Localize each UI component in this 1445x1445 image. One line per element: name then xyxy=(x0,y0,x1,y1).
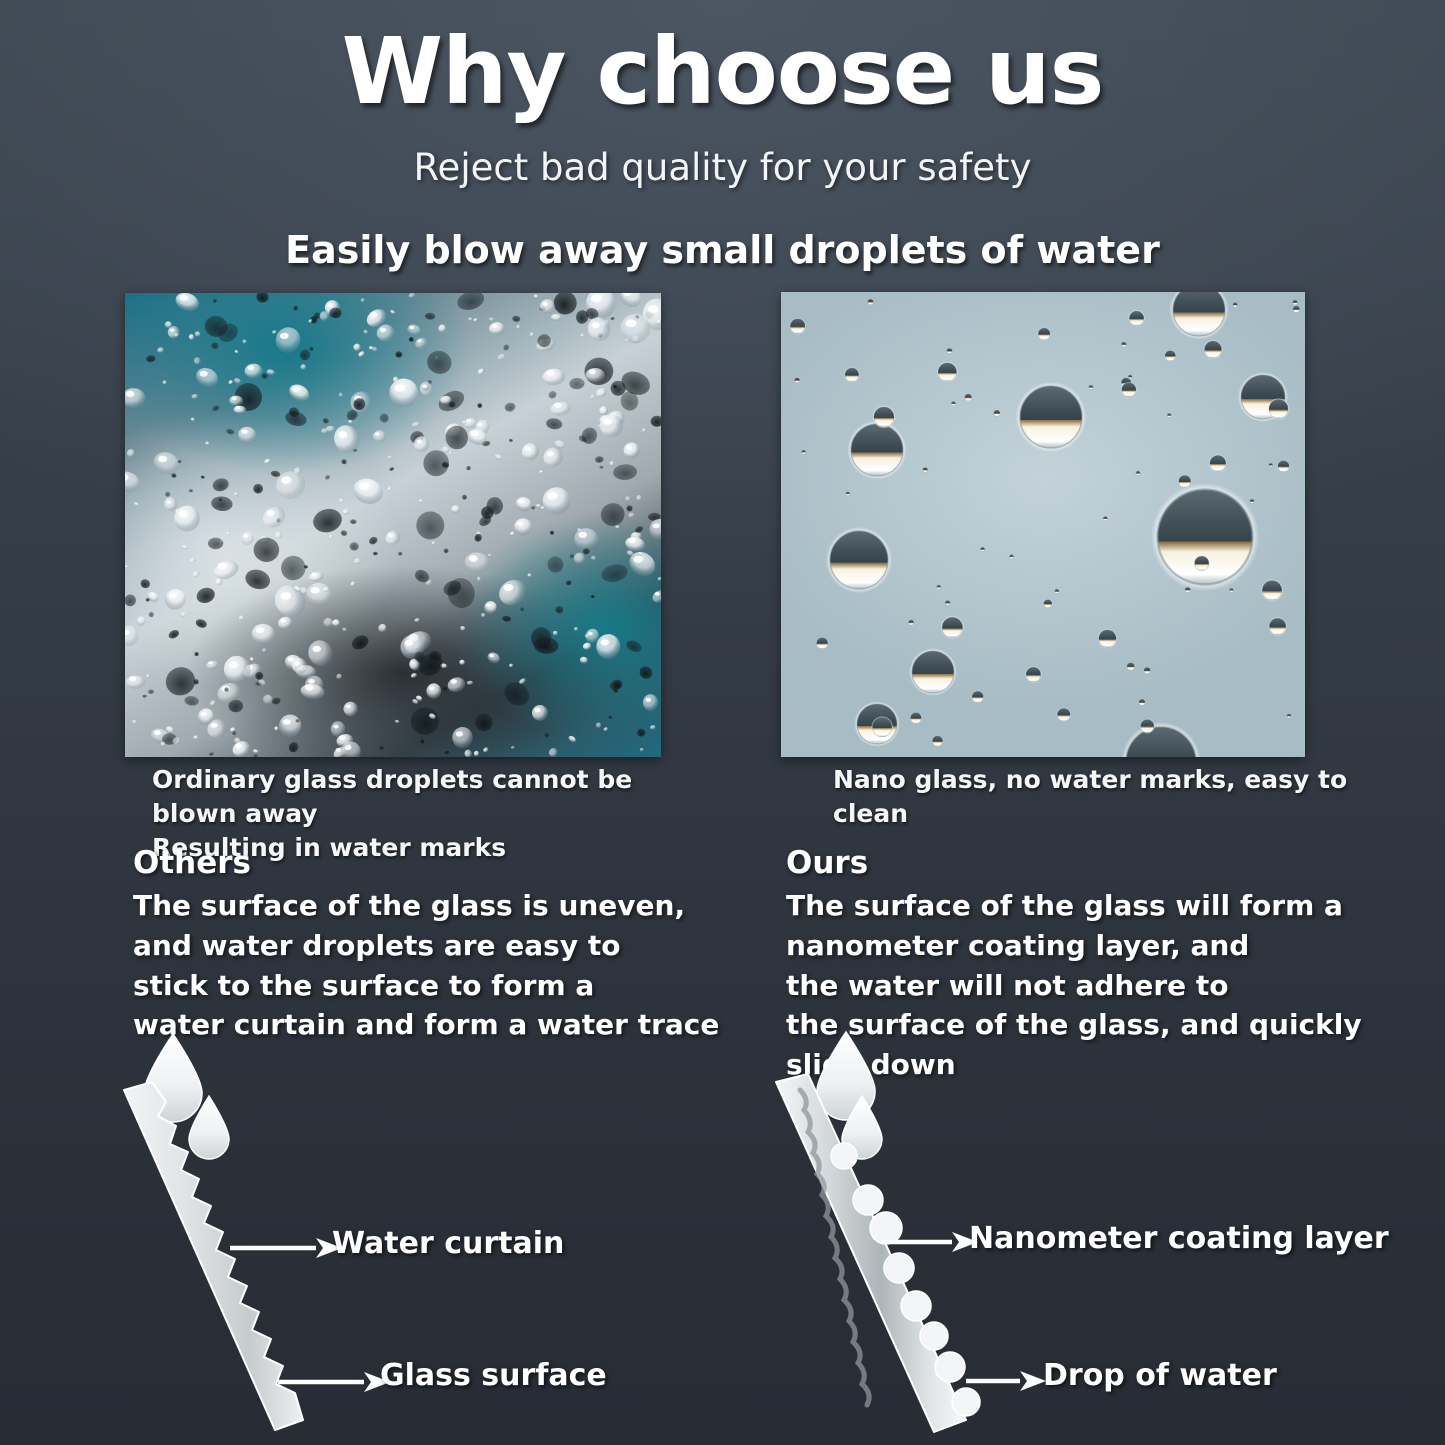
rain-droplet xyxy=(442,687,447,691)
rain-droplet xyxy=(395,719,400,723)
nano-water-bead xyxy=(1121,722,1201,757)
nano-water-bead xyxy=(1268,617,1287,636)
rain-droplet xyxy=(350,542,359,551)
nano-water-bead xyxy=(1128,310,1145,327)
droplet-highlight xyxy=(388,533,393,537)
rain-droplet xyxy=(208,538,223,550)
rain-droplet xyxy=(536,504,542,508)
rain-droplet xyxy=(494,575,531,610)
section-heading: Easily blow away small droplets of water xyxy=(0,228,1445,272)
rain-droplet xyxy=(377,623,388,634)
rain-droplet xyxy=(194,585,217,605)
rain-droplet xyxy=(253,749,259,754)
rain-droplet xyxy=(272,324,304,357)
rain-droplet xyxy=(308,571,324,582)
rain-droplet xyxy=(201,475,206,479)
rain-droplet xyxy=(473,318,478,322)
nano-water-bead xyxy=(1140,719,1155,734)
nano-water-bead xyxy=(1209,454,1227,472)
droplet-highlight xyxy=(218,563,227,570)
droplet-highlight xyxy=(266,510,274,516)
rain-droplet xyxy=(261,373,267,379)
nano-water-bead xyxy=(1268,463,1273,468)
rain-droplet xyxy=(473,533,483,543)
nano-water-bead xyxy=(1128,375,1133,380)
rain-droplet xyxy=(189,557,196,563)
rain-droplet xyxy=(451,505,460,514)
rain-droplet xyxy=(431,541,436,545)
rain-droplet xyxy=(574,627,579,632)
nano-glass-caption: Nano glass, no water marks, easy to clea… xyxy=(833,763,1353,831)
nano-water-bead xyxy=(1143,667,1150,674)
nano-water-bead xyxy=(1103,516,1108,521)
rain-droplet xyxy=(342,627,348,632)
droplet-highlight xyxy=(308,679,315,684)
rain-droplet xyxy=(599,466,603,469)
rain-droplet xyxy=(474,751,480,757)
rain-droplet xyxy=(378,412,390,424)
others-body-line: stick to the surface to form a xyxy=(133,966,733,1006)
rain-droplet xyxy=(549,400,572,417)
rain-droplet xyxy=(192,570,201,578)
rain-droplet xyxy=(389,467,395,472)
rain-droplet xyxy=(511,746,516,750)
rain-droplet xyxy=(350,519,356,524)
rain-droplet xyxy=(529,332,534,337)
nano-water-bead xyxy=(1178,474,1192,488)
rain-droplet xyxy=(600,562,630,585)
nano-water-bead xyxy=(1194,555,1210,571)
nano-water-bead xyxy=(826,527,892,593)
droplet-highlight xyxy=(380,328,386,333)
water-bead-icon xyxy=(870,1212,902,1244)
rain-droplet xyxy=(379,746,384,750)
rain-droplet xyxy=(209,752,214,757)
rain-droplet xyxy=(512,517,533,537)
rain-droplet xyxy=(425,682,442,699)
droplet-highlight xyxy=(211,723,218,728)
nano-water-bead xyxy=(794,377,800,383)
rain-droplet xyxy=(238,615,245,621)
rain-droplet xyxy=(474,713,494,733)
rain-droplet xyxy=(493,453,502,462)
droplet-highlight xyxy=(409,326,414,330)
rain-droplet xyxy=(609,461,615,467)
droplet-highlight xyxy=(417,339,422,342)
rain-droplet xyxy=(642,428,646,433)
rain-droplet xyxy=(497,353,507,361)
rain-droplet xyxy=(477,403,482,408)
rain-droplet xyxy=(210,495,233,512)
rain-droplet xyxy=(615,525,620,530)
rain-droplet xyxy=(520,441,541,462)
rain-droplet xyxy=(293,306,298,311)
droplet-highlight xyxy=(283,719,291,725)
rain-droplet xyxy=(180,611,187,618)
droplet-highlight xyxy=(339,431,348,438)
droplet-highlight xyxy=(542,302,547,306)
droplet-highlight xyxy=(394,384,404,392)
rain-droplet xyxy=(212,558,242,582)
rain-droplet xyxy=(256,293,270,303)
nano-water-bead xyxy=(1136,471,1141,476)
rain-droplet xyxy=(584,313,615,344)
rain-droplet xyxy=(254,754,258,757)
rain-droplet xyxy=(598,500,628,529)
nano-water-bead xyxy=(1229,588,1234,593)
droplet-highlight xyxy=(517,521,523,526)
rain-droplet xyxy=(579,656,588,664)
rain-droplet xyxy=(628,512,635,518)
rain-droplet xyxy=(415,510,447,542)
rain-droplet xyxy=(190,417,195,422)
droplet-highlight xyxy=(578,532,587,538)
nano-water-bead xyxy=(1056,707,1071,722)
ordinary-glass-droplets-overlay xyxy=(125,293,661,757)
label-drop-of-water: Drop of water xyxy=(1043,1358,1277,1393)
nano-water-bead xyxy=(1233,302,1238,307)
rain-droplet xyxy=(162,380,166,384)
rain-droplet xyxy=(340,530,348,537)
rain-droplet xyxy=(613,464,638,481)
ours-body-line: nanometer coating layer, and xyxy=(786,926,1406,966)
rain-droplet xyxy=(133,501,139,507)
rain-droplet xyxy=(424,347,456,378)
nano-water-bead xyxy=(789,318,806,335)
nano-water-bead xyxy=(908,619,914,625)
rain-droplet xyxy=(330,421,364,456)
rain-droplet xyxy=(184,695,199,706)
droplet-highlight xyxy=(525,447,531,451)
nano-water-bead xyxy=(1138,699,1145,706)
water-bead-icon xyxy=(952,1388,980,1416)
rain-droplet xyxy=(539,470,544,474)
page-title: Why choose us xyxy=(0,22,1445,121)
rain-droplet xyxy=(398,551,403,556)
nano-water-bead xyxy=(871,716,893,738)
droplet-highlight xyxy=(208,661,213,664)
rain-droplet xyxy=(459,659,465,665)
rain-droplet xyxy=(161,663,199,700)
nano-water-bead xyxy=(946,348,952,354)
rain-droplet xyxy=(580,333,585,338)
rain-droplet xyxy=(390,309,396,314)
rain-droplet xyxy=(603,726,609,731)
nano-water-bead xyxy=(1268,398,1290,420)
rain-droplet xyxy=(540,299,555,314)
droplet-highlight xyxy=(336,748,341,752)
droplet-highlight xyxy=(592,322,600,328)
nano-water-bead xyxy=(1088,385,1093,390)
droplet-highlight xyxy=(492,324,498,328)
rain-droplet xyxy=(549,530,554,535)
rain-droplet xyxy=(143,695,147,698)
rain-droplet xyxy=(189,489,193,492)
nano-water-bead xyxy=(1126,662,1135,671)
droplet-highlight xyxy=(489,654,494,657)
rain-droplet xyxy=(387,486,393,491)
rain-droplet xyxy=(181,544,188,550)
others-heading: Others xyxy=(133,845,251,881)
rain-droplet xyxy=(226,428,235,435)
droplet-highlight xyxy=(503,584,513,591)
nano-water-bead xyxy=(1277,460,1290,473)
nano-water-bead xyxy=(1185,587,1191,593)
rain-droplet xyxy=(590,555,596,561)
nano-water-bead xyxy=(932,735,944,747)
rain-droplet xyxy=(148,611,154,617)
rain-droplet xyxy=(253,537,280,562)
rain-droplet xyxy=(410,707,440,736)
rain-droplet xyxy=(512,315,520,322)
droplet-highlight xyxy=(535,708,541,712)
nano-water-bead xyxy=(872,406,895,429)
rain-droplet xyxy=(303,580,335,610)
rain-droplet xyxy=(259,502,289,531)
droplet-highlight xyxy=(200,712,206,716)
nano-water-bead xyxy=(801,450,806,455)
ours-body-line: the water will not adhere to xyxy=(786,966,1406,1006)
nano-water-bead xyxy=(909,648,957,696)
droplet-highlight xyxy=(345,745,352,750)
droplet-highlight xyxy=(129,676,136,681)
nano-water-bead xyxy=(936,585,941,590)
ours-heading: Ours xyxy=(786,845,868,881)
droplet-highlight xyxy=(236,406,240,409)
droplet-highlight xyxy=(646,698,652,702)
rain-droplet xyxy=(204,441,209,446)
rain-droplet xyxy=(276,551,310,585)
water-bead-icon xyxy=(853,1185,883,1215)
rain-droplet xyxy=(211,404,220,412)
water-bead-icon xyxy=(884,1253,914,1283)
droplet-highlight xyxy=(486,604,490,607)
water-bead-icon xyxy=(831,1143,857,1169)
droplet-highlight xyxy=(311,572,316,576)
rain-droplet xyxy=(188,333,196,341)
droplet-highlight xyxy=(281,619,286,623)
rain-droplet xyxy=(249,657,254,662)
rain-droplet xyxy=(650,725,657,730)
rain-droplet xyxy=(148,689,154,694)
nano-water-bead xyxy=(922,467,928,473)
nano-water-bead xyxy=(1037,327,1051,341)
rain-droplet xyxy=(417,379,436,398)
rain-droplet xyxy=(509,663,514,668)
droplet-highlight xyxy=(655,592,660,596)
droplet-highlight xyxy=(653,523,660,528)
rain-droplet xyxy=(482,746,489,753)
droplet-highlight xyxy=(358,482,369,490)
rain-droplet xyxy=(545,417,563,430)
rain-droplet xyxy=(395,351,402,358)
rain-droplet xyxy=(455,293,486,313)
rain-droplet xyxy=(489,322,506,336)
label-glass-surface: Glass surface xyxy=(380,1358,607,1393)
droplet-highlight xyxy=(456,731,463,736)
droplet-highlight xyxy=(547,451,554,456)
rain-droplet xyxy=(551,314,562,322)
rain-droplet xyxy=(590,594,595,598)
rain-droplet xyxy=(452,727,473,749)
rain-droplet xyxy=(582,642,592,651)
rain-droplet xyxy=(527,573,532,578)
droplet-highlight xyxy=(469,555,478,562)
rain-droplet xyxy=(414,336,430,350)
droplet-highlight xyxy=(451,679,457,684)
rain-droplet xyxy=(244,363,262,378)
rain-droplet xyxy=(408,337,414,343)
droplet-highlight xyxy=(328,303,333,307)
nano-water-bead xyxy=(941,616,964,639)
others-body-line: The surface of the glass is uneven, xyxy=(133,886,733,926)
rain-droplet xyxy=(206,660,220,670)
rain-droplet xyxy=(360,298,365,303)
rain-droplet xyxy=(598,405,609,416)
droplet-highlight xyxy=(292,386,300,392)
rain-droplet xyxy=(230,738,253,757)
rain-droplet xyxy=(336,674,342,680)
rain-droplet xyxy=(211,476,230,493)
rain-droplet xyxy=(567,735,577,744)
droplet-highlight xyxy=(280,333,289,339)
droplet-highlight xyxy=(629,538,636,543)
arrow-right-icon xyxy=(966,1371,1046,1391)
nano-water-bead xyxy=(951,401,956,406)
droplet-highlight xyxy=(248,365,255,370)
rain-droplet xyxy=(476,576,482,582)
rain-droplet xyxy=(233,377,242,385)
rain-droplet xyxy=(569,554,574,559)
droplet-highlight xyxy=(281,476,291,484)
rain-droplet xyxy=(574,553,585,565)
rain-droplet xyxy=(195,618,209,630)
arrow-right-icon xyxy=(278,1372,390,1392)
rain-droplet xyxy=(274,530,284,540)
droplet-highlight xyxy=(179,511,188,518)
label-water-curtain: Water curtain xyxy=(332,1226,564,1261)
rain-droplet xyxy=(300,364,306,370)
rain-droplet xyxy=(608,678,624,692)
rain-droplet xyxy=(161,585,189,613)
rain-droplet xyxy=(324,474,331,480)
rain-droplet xyxy=(322,417,330,424)
rain-droplet xyxy=(580,425,600,446)
rain-droplet xyxy=(125,625,139,647)
droplet-highlight xyxy=(633,556,643,563)
rain-droplet xyxy=(157,347,164,353)
rain-droplet xyxy=(514,495,534,513)
rain-droplet xyxy=(411,421,420,428)
rain-droplet xyxy=(420,739,424,743)
droplet-highlight xyxy=(429,687,434,691)
rain-droplet xyxy=(502,343,510,351)
rain-droplet xyxy=(266,369,275,376)
rain-droplet xyxy=(383,528,403,548)
rain-droplet xyxy=(353,558,361,565)
rain-droplet xyxy=(193,364,222,391)
rain-droplet xyxy=(626,505,632,511)
rain-droplet xyxy=(253,483,264,493)
rain-droplet xyxy=(234,349,239,354)
nano-glass-beads-overlay xyxy=(781,292,1305,757)
rain-droplet xyxy=(131,719,137,725)
rain-droplet xyxy=(466,465,471,470)
nano-water-bead xyxy=(937,361,958,382)
rain-droplet xyxy=(485,650,501,665)
rain-droplet xyxy=(625,638,644,654)
nano-water-bead xyxy=(1169,292,1228,340)
rain-droplet xyxy=(547,746,559,757)
rain-droplet xyxy=(510,531,515,536)
droplet-highlight xyxy=(588,632,593,636)
rain-droplet xyxy=(569,378,585,390)
rain-droplet xyxy=(595,386,609,398)
droplet-highlight xyxy=(179,295,188,301)
rain-droplet xyxy=(544,732,549,738)
rain-droplet xyxy=(125,594,137,607)
droplet-highlight xyxy=(478,423,483,427)
rain-droplet xyxy=(193,735,198,740)
droplet-highlight xyxy=(370,312,378,317)
rain-droplet xyxy=(150,448,182,478)
droplet-highlight xyxy=(375,432,380,435)
rain-droplet xyxy=(194,652,199,656)
rain-droplet xyxy=(350,580,357,586)
droplet-highlight xyxy=(333,725,338,729)
nano-water-bead xyxy=(1016,382,1087,453)
droplet-highlight xyxy=(256,627,264,633)
nano-water-bead xyxy=(993,410,1000,417)
rain-droplet xyxy=(519,606,525,612)
rain-droplet xyxy=(368,535,379,545)
rain-droplet xyxy=(286,381,312,405)
droplet-highlight xyxy=(312,646,321,652)
droplet-highlight xyxy=(158,456,167,463)
rain-droplet xyxy=(547,390,558,400)
rain-droplet xyxy=(650,416,661,428)
rain-droplet xyxy=(610,316,615,320)
rain-droplet xyxy=(126,675,146,689)
droplet-highlight xyxy=(244,534,249,537)
rain-droplet xyxy=(139,578,151,590)
nano-water-bead xyxy=(1164,350,1176,362)
droplet-highlight xyxy=(589,369,596,374)
rain-droplet xyxy=(446,675,467,694)
rain-droplet xyxy=(277,615,294,630)
rain-droplet xyxy=(228,379,234,385)
rain-droplet xyxy=(414,618,420,623)
rain-droplet xyxy=(125,388,146,408)
rain-droplet xyxy=(444,750,450,754)
rain-droplet xyxy=(262,647,268,652)
rain-droplet xyxy=(595,722,602,729)
nano-water-bead xyxy=(844,367,860,383)
rain-droplet xyxy=(624,535,647,553)
nano-water-bead xyxy=(1250,499,1255,504)
droplet-highlight xyxy=(591,295,602,303)
rain-droplet xyxy=(425,312,436,319)
rain-droplet xyxy=(542,368,566,386)
ours-body-line: The surface of the glass will form a xyxy=(786,886,1406,926)
rain-droplet xyxy=(146,355,156,363)
droplet-highlight xyxy=(604,419,612,425)
rain-droplet xyxy=(272,330,277,335)
rain-droplet xyxy=(625,496,631,502)
rain-droplet xyxy=(595,456,604,463)
droplet-highlight xyxy=(126,391,135,397)
ordinary-glass-photo xyxy=(125,293,661,757)
